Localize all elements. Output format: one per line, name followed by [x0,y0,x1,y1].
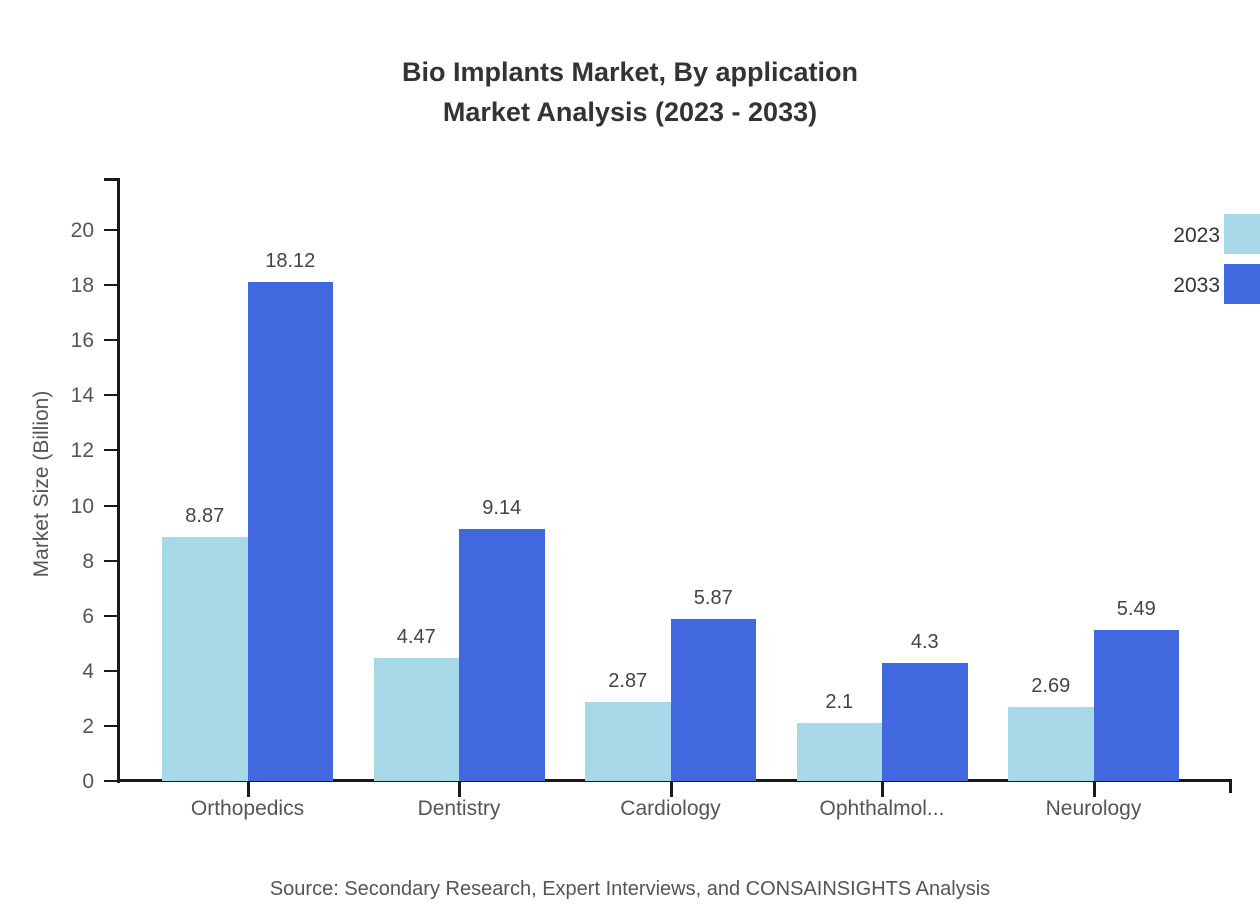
legend: 2023 2033 [1120,214,1260,314]
y-tick-20 [104,229,118,231]
y-axis-line [117,178,120,783]
y-tick-label-2: 2 [34,716,94,737]
y-axis-top-tick [104,178,118,181]
bar-value-label: 5.87 [633,588,793,608]
y-tick-16 [104,339,118,341]
x-tick-label-neurology: Neurology [984,796,1204,822]
y-tick-label-20: 20 [34,220,94,241]
x-tick-0 [247,782,250,797]
y-tick-label-16: 16 [34,330,94,351]
legend-item-2033[interactable]: 2033 [1120,264,1260,314]
bar-2033-cardiology[interactable] [671,619,757,781]
legend-label-2033: 2033 [1130,275,1220,296]
y-tick-label-12: 12 [34,440,94,461]
x-tick-2 [670,782,673,797]
y-tick-6 [104,615,118,617]
chart-title-line-2: Market Analysis (2023 - 2033) [0,92,1260,132]
x-tick-label-dentistry: Dentistry [349,796,569,822]
x-tick-label-ophthalmol: Ophthalmol... [772,796,992,822]
bar-value-label: 9.14 [422,498,582,518]
y-tick-label-4: 4 [34,661,94,682]
y-tick-18 [104,284,118,286]
x-axis-end-tick [1229,779,1232,793]
x-tick-1 [458,782,461,797]
y-tick-14 [104,394,118,396]
legend-item-2023[interactable]: 2023 [1120,214,1260,264]
bar-2023-dentistry[interactable] [374,658,460,781]
bar-2023-neurology[interactable] [1008,707,1094,781]
y-tick-8 [104,560,118,562]
chart-title-line-1: Bio Implants Market, By application [0,52,1260,92]
y-tick-label-18: 18 [34,275,94,296]
bar-value-label: 4.3 [845,632,1005,652]
legend-swatch-2023 [1224,214,1260,254]
source-note: Source: Secondary Research, Expert Inter… [0,878,1260,901]
bar-2033-dentistry[interactable] [459,529,545,781]
x-tick-label-cardiology: Cardiology [561,796,781,822]
y-tick-10 [104,505,118,507]
legend-swatch-2033 [1224,264,1260,304]
y-tick-4 [104,670,118,672]
y-tick-label-6: 6 [34,606,94,627]
bar-value-label: 18.12 [210,251,370,271]
x-tick-3 [881,782,884,797]
y-tick-2 [104,725,118,727]
legend-label-2023: 2023 [1130,225,1220,246]
x-tick-4 [1093,782,1096,797]
y-tick-label-0: 0 [34,771,94,792]
bar-2033-ophthalmol[interactable] [882,663,968,781]
bar-2023-orthopedics[interactable] [162,537,248,781]
chart-title: Bio Implants Market, By application Mark… [0,52,1260,132]
y-tick-label-14: 14 [34,385,94,406]
x-tick-label-orthopedics: Orthopedics [138,796,358,822]
y-tick-12 [104,449,118,451]
bar-2023-ophthalmol[interactable] [797,723,883,781]
y-axis-label: Market Size (Billion) [30,184,54,784]
y-tick-0 [104,780,118,782]
bar-2033-orthopedics[interactable] [248,282,334,781]
y-tick-label-10: 10 [34,496,94,517]
bar-2023-cardiology[interactable] [585,702,671,781]
chart-canvas: Bio Implants Market, By application Mark… [0,0,1260,920]
bar-2033-neurology[interactable] [1094,630,1180,781]
y-tick-label-8: 8 [34,551,94,572]
bar-value-label: 5.49 [1056,599,1216,619]
